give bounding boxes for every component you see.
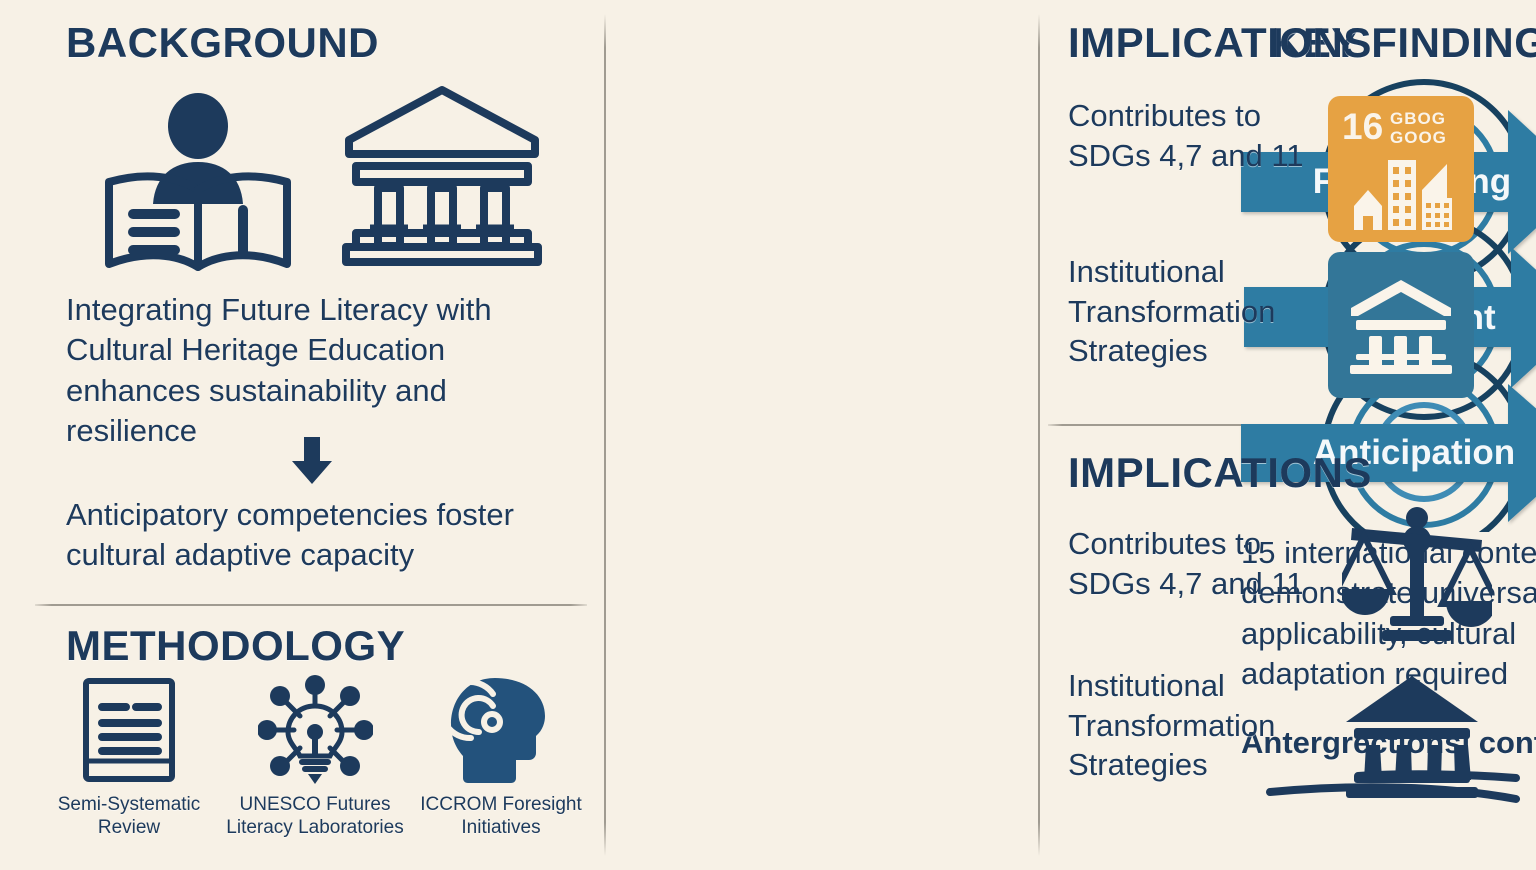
implications-top-row-2-text: Institutional Transformation Strategies (1068, 252, 1318, 371)
background-column: BACKGROUND (0, 0, 604, 870)
methodology-icon-wrap (258, 672, 373, 787)
implications-top-row-1-text: Contributes to SDGs 4,7 and 11 (1068, 96, 1318, 175)
key-findings-column: KEY FINDINGS (606, 0, 1038, 870)
sdg-badge-word: GBOG GOOG (1390, 109, 1447, 147)
balance-scale-icon (1342, 504, 1492, 644)
institution-badge (1328, 252, 1474, 398)
implications-bottom-title: IMPLICATIONS (1068, 452, 1372, 494)
lightbulb-network-icon (258, 674, 373, 786)
methodology-title: METHODOLOGY (66, 625, 405, 667)
background-statement: Integrating Future Literacy with Cultura… (66, 290, 566, 451)
sdg-badge-word-line1: GBOG (1390, 109, 1447, 128)
classical-building-icon (1347, 276, 1455, 374)
classical-building-icon (340, 78, 545, 268)
institution-icon-wrap (1342, 670, 1482, 803)
implications-top-row-2: Institutional Transformation Strategies (1068, 252, 1508, 398)
person-reading-book-icon (95, 86, 305, 271)
sdg-badge-surface: 16 GBOG GOOG (1328, 96, 1474, 242)
methodology-items: Semi-Systematic Review (36, 672, 596, 840)
background-title: BACKGROUND (66, 22, 379, 64)
infographic-canvas: BACKGROUND (0, 0, 1536, 870)
sdg-goal-badge: 16 GBOG GOOG (1328, 96, 1474, 242)
methodology-item: ICCROM Foresight Initiatives (408, 672, 594, 840)
methodology-icon-wrap (447, 672, 555, 787)
implications-top-row-1: Contributes to SDGs 4,7 and 11 16 GBOG G… (1068, 96, 1508, 242)
methodology-item-label: ICCROM Foresight Initiatives (408, 794, 594, 840)
methodology-item-label: Semi-Systematic Review (36, 794, 222, 840)
methodology-item: UNESCO Futures Literacy Laboratories (222, 672, 408, 840)
sdg-badge-number: 16 (1342, 108, 1383, 145)
implications-bottom-row-1: Contributes to SDGs 4,7 and 11 (1068, 524, 1518, 649)
city-buildings-icon (1350, 158, 1455, 232)
sdg-badge-word-line2: GOOG (1390, 128, 1447, 147)
methodology-item-label: UNESCO Futures Literacy Laboratories (222, 794, 408, 840)
implications-column: IMPLICATIONS Contributes to SDGs 4,7 and… (1040, 0, 1536, 870)
classical-building-filled-icon (1342, 670, 1482, 798)
implications-bottom-row-2-text: Institutional Transformation Strategies (1068, 666, 1318, 785)
implications-bottom-row-2: Institutional Transformation Strategies (1068, 666, 1518, 803)
background-outcome: Anticipatory competencies foster cultura… (66, 495, 586, 576)
implications-top-title: IMPLICATIONS (1068, 22, 1372, 64)
implications-bottom-row-1-text: Contributes to SDGs 4,7 and 11 (1068, 524, 1318, 603)
institution-badge-surface (1328, 252, 1474, 398)
background-icon-group (95, 78, 565, 278)
methodology-item: Semi-Systematic Review (36, 672, 222, 840)
scale-icon-wrap (1342, 504, 1492, 649)
document-lines-icon (78, 675, 180, 785)
head-spiral-icon (447, 674, 555, 786)
methodology-icon-wrap (78, 672, 180, 787)
down-arrow-icon (290, 437, 334, 485)
